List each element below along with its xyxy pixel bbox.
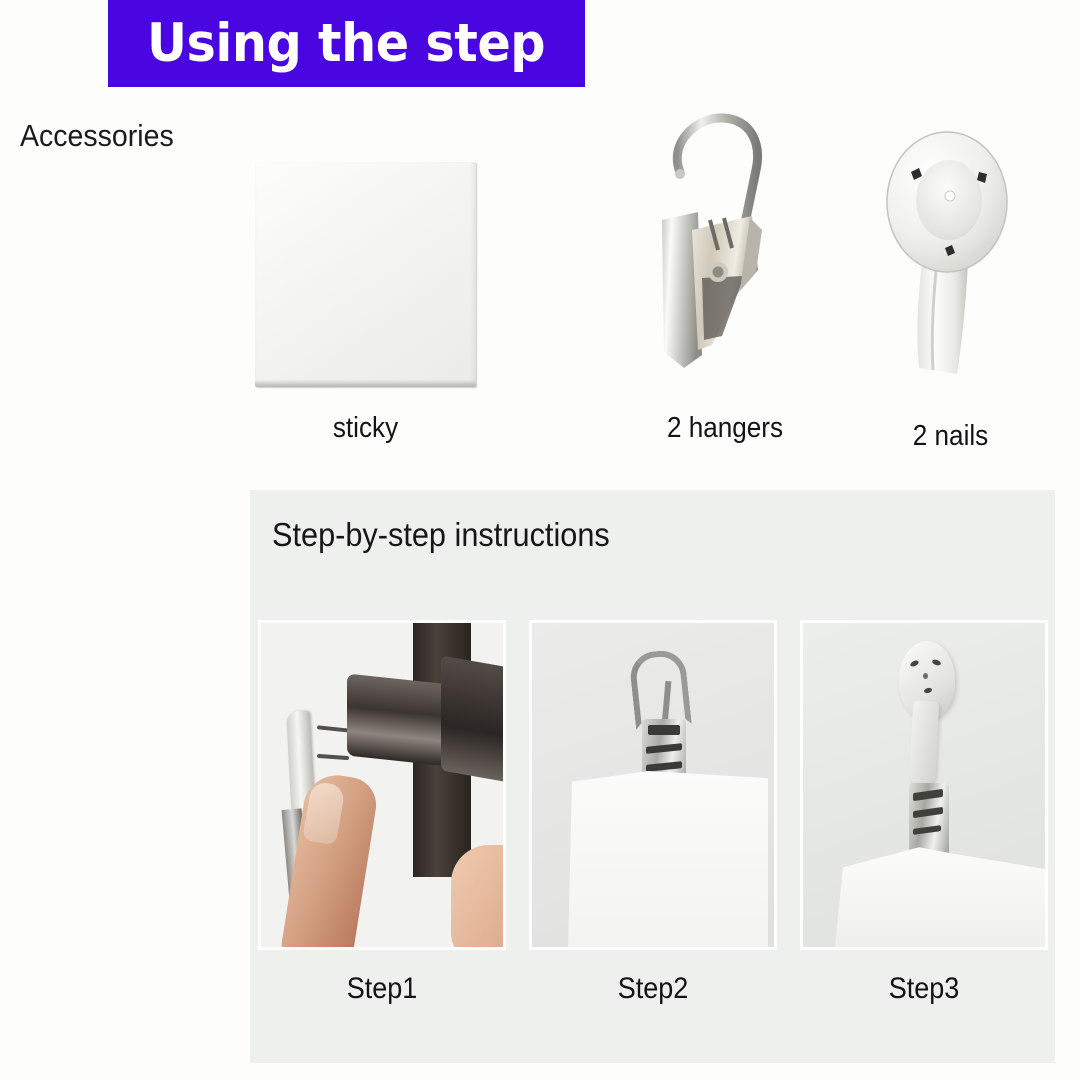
step-caption-1: Step1 (270, 972, 493, 1006)
page-title: Using the step (147, 17, 545, 70)
s-hook-curve (628, 648, 692, 729)
nail-hole-left (909, 659, 919, 667)
wall-hook-nail-icon (875, 130, 1025, 390)
clip-slot-mid (913, 807, 943, 818)
clip-slot-low (913, 825, 941, 835)
step-item-1: Step1 (258, 620, 506, 1006)
nail-hole-bottom (923, 687, 932, 694)
title-banner: Using the step (108, 0, 585, 87)
clip-slot-low (646, 761, 682, 772)
accessory-label-hangers: 2 hangers (635, 412, 815, 445)
nail-2 (317, 754, 349, 760)
clip-slot-top (648, 725, 680, 735)
step-photo-2 (529, 620, 777, 950)
step-item-3: Step3 (800, 620, 1048, 1006)
nail-1 (317, 725, 351, 733)
nail-hole-right (931, 659, 941, 667)
wall-hook-arm (909, 700, 939, 787)
hammer-claw (441, 655, 506, 785)
step-caption-2: Step2 (541, 972, 764, 1006)
accessory-label-sticky: sticky (266, 412, 465, 445)
center-dot (923, 673, 928, 679)
step-item-2: Step2 (529, 620, 777, 1006)
hanging-fabric (825, 845, 1048, 950)
hanger-clip-icon (640, 100, 810, 385)
clip-slot-top (913, 789, 943, 801)
white-sheet (568, 771, 768, 950)
second-hand (451, 845, 506, 950)
adhesive-pad-icon (255, 162, 476, 387)
instructions-panel: Step-by-step instructions Step1 (250, 490, 1055, 1063)
step-caption-3: Step3 (812, 972, 1035, 1006)
steps-row: Step1 Step2 (258, 620, 1048, 1006)
step-photo-1 (258, 620, 506, 950)
step-photo-3 (800, 620, 1048, 950)
instructions-heading: Step-by-step instructions (272, 516, 610, 554)
accessories-heading: Accessories (20, 118, 174, 154)
accessory-label-nails: 2 nails (876, 420, 1025, 453)
clip-slot-mid (646, 743, 682, 754)
